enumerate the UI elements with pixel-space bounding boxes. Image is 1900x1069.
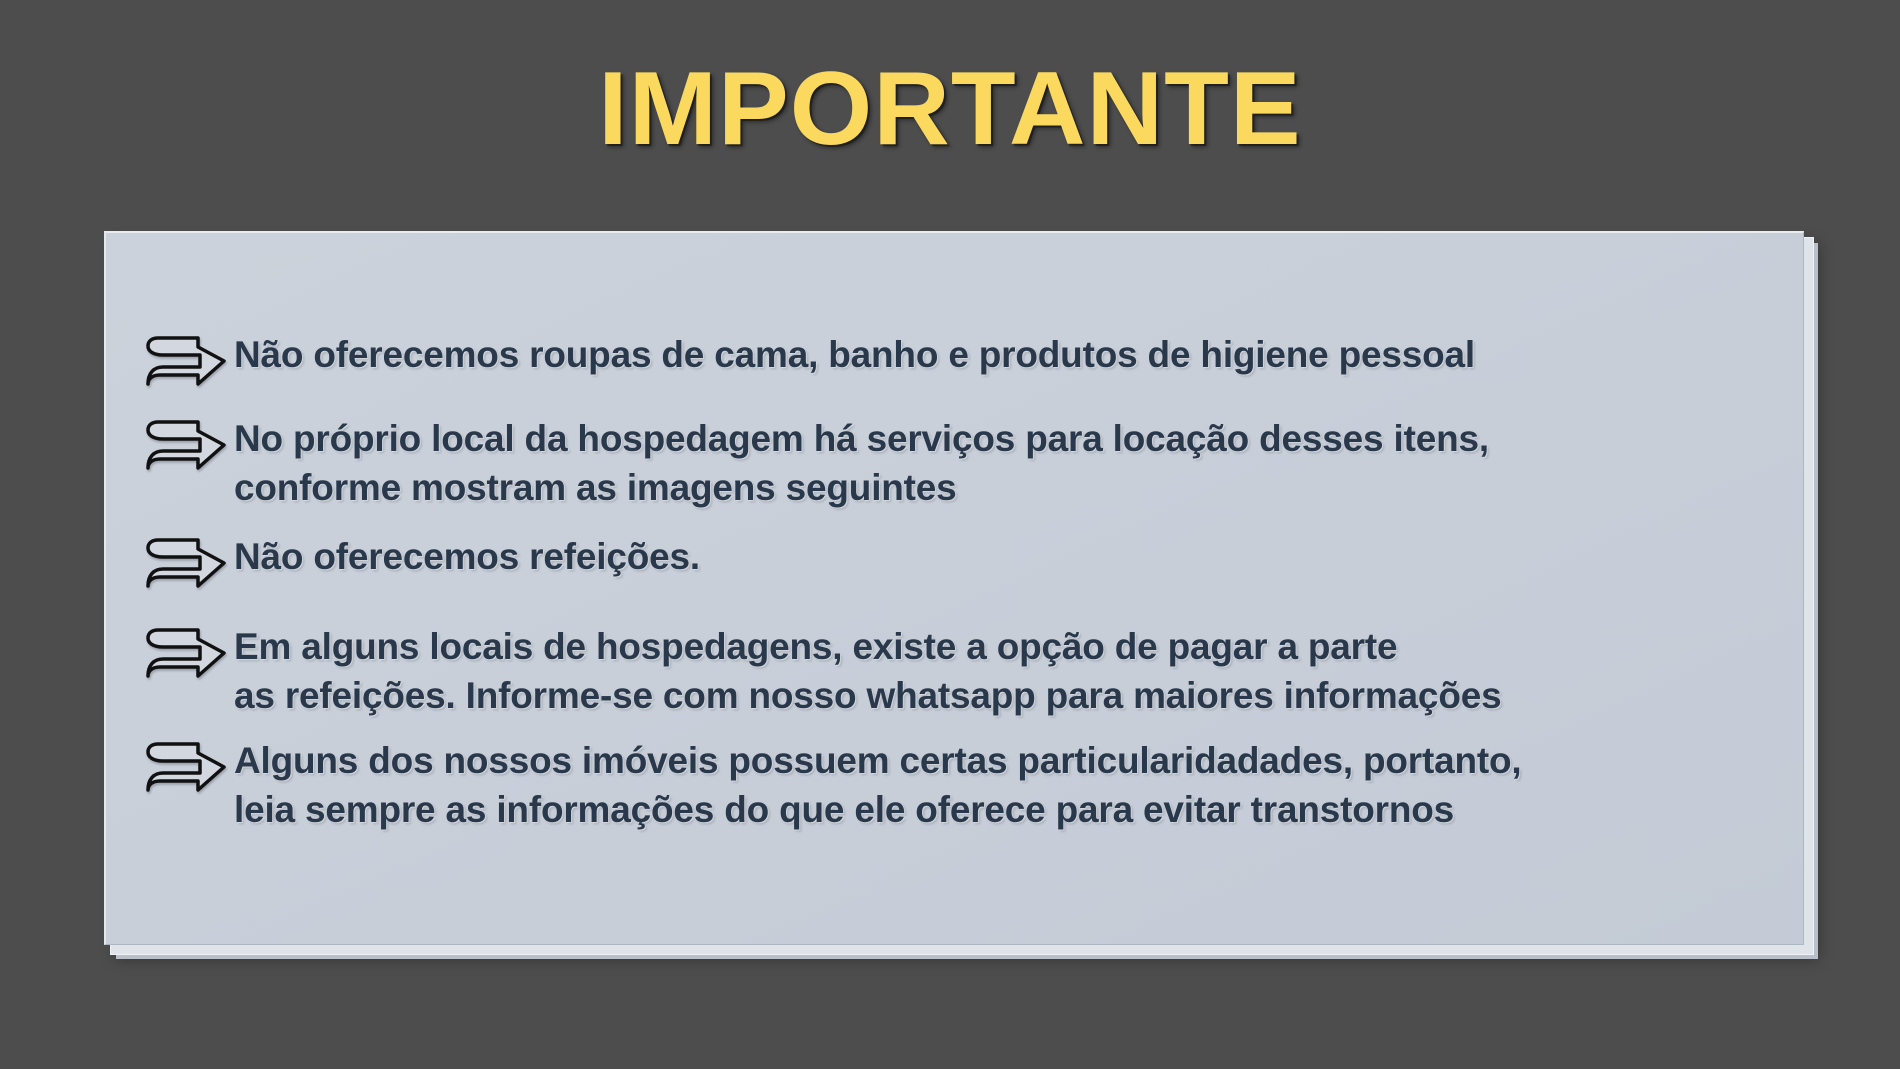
list-item-label: Não oferecemos roupas de cama, banho e p… <box>234 330 1475 379</box>
list-item: Não oferecemos refeições. <box>144 532 1784 590</box>
list-item: No próprio local da hospedagem há serviç… <box>144 414 1784 512</box>
list-item-label: Em alguns locais de hospedagens, existe … <box>234 622 1501 720</box>
list-item-label: Alguns dos nossos imóveis possuem certas… <box>234 736 1522 834</box>
right-arrow-icon <box>144 740 228 794</box>
right-arrow-icon <box>144 418 228 472</box>
right-arrow-icon <box>144 626 228 680</box>
list-item: Alguns dos nossos imóveis possuem certas… <box>144 736 1784 834</box>
list-item: Em alguns locais de hospedagens, existe … <box>144 622 1784 720</box>
list-item-label: No próprio local da hospedagem há serviç… <box>234 414 1489 512</box>
page-title: IMPORTANTE <box>598 54 1302 164</box>
slide-title-container: IMPORTANTE <box>0 54 1900 164</box>
list-item-label: Não oferecemos refeições. <box>234 532 700 581</box>
list-item: Não oferecemos roupas de cama, banho e p… <box>144 330 1784 388</box>
right-arrow-icon <box>144 334 228 388</box>
right-arrow-icon <box>144 536 228 590</box>
bullet-list: Não oferecemos roupas de cama, banho e p… <box>144 330 1784 834</box>
